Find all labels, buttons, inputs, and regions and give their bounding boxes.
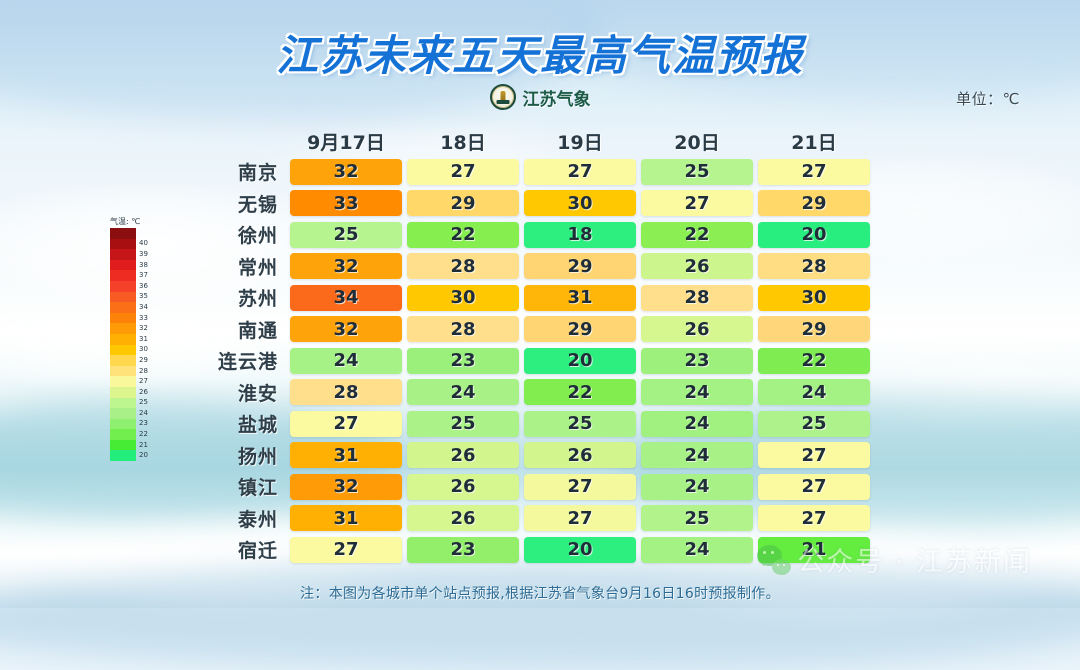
temperature-cell: 26 bbox=[641, 316, 753, 342]
temperature-cell: 32 bbox=[290, 316, 402, 342]
temperature-cell: 27 bbox=[524, 474, 636, 500]
legend-tick-label: 29 bbox=[139, 357, 148, 364]
legend-tick-label: 24 bbox=[139, 410, 148, 417]
legend-tick-label: 34 bbox=[139, 304, 148, 311]
temperature-cell: 31 bbox=[524, 285, 636, 311]
footer-note: 注：本图为各城市单个站点预报,根据江苏省气象台9月16日16时预报制作。 bbox=[0, 583, 1080, 603]
legend-tick-label: 37 bbox=[139, 272, 148, 279]
temperature-cell: 23 bbox=[641, 348, 753, 374]
temperature-cell: 28 bbox=[758, 253, 870, 279]
legend-tick-label: 23 bbox=[139, 420, 148, 427]
temperature-cell: 20 bbox=[758, 222, 870, 248]
temperature-cell: 22 bbox=[641, 222, 753, 248]
legend-stop: 35 bbox=[110, 292, 162, 303]
city-label: 苏州 bbox=[195, 284, 290, 311]
temperature-cell: 24 bbox=[641, 474, 753, 500]
legend-stop: 37 bbox=[110, 270, 162, 281]
legend-swatch bbox=[110, 302, 136, 313]
legend-swatch bbox=[110, 345, 136, 356]
legend-stop: 25 bbox=[110, 398, 162, 409]
table-row: 盐城2725252425 bbox=[195, 408, 875, 440]
temperature-cell: 27 bbox=[407, 159, 519, 185]
temperature-cell: 27 bbox=[290, 411, 402, 437]
temperature-cell: 34 bbox=[290, 285, 402, 311]
legend-tick-label: 20 bbox=[139, 452, 148, 459]
legend-swatch bbox=[110, 450, 136, 461]
table-row: 镇江3226272427 bbox=[195, 471, 875, 503]
temperature-cell: 24 bbox=[758, 379, 870, 405]
legend-tick-label: 40 bbox=[139, 240, 148, 247]
temperature-cell: 31 bbox=[290, 442, 402, 468]
city-label: 连云港 bbox=[195, 347, 290, 374]
city-label: 南京 bbox=[195, 158, 290, 185]
column-header-day-3: 19日 bbox=[524, 128, 636, 155]
temperature-cell: 25 bbox=[758, 411, 870, 437]
temperature-legend: 气温: ℃ 4039383736353433323130292827262524… bbox=[110, 216, 162, 461]
brand-name: 江苏气象 bbox=[523, 85, 591, 110]
table-row: 宿迁2723202421 bbox=[195, 534, 875, 566]
legend-stop: 39 bbox=[110, 249, 162, 260]
temperature-cell: 25 bbox=[407, 411, 519, 437]
temperature-cell: 28 bbox=[641, 285, 753, 311]
legend-swatch bbox=[110, 281, 136, 292]
temperature-cell: 26 bbox=[407, 505, 519, 531]
temperature-cell: 25 bbox=[290, 222, 402, 248]
brand-logo: 江苏气象 bbox=[0, 84, 1080, 110]
legend-stop: 40 bbox=[110, 239, 162, 250]
temperature-cell: 23 bbox=[407, 537, 519, 563]
temperature-cell: 23 bbox=[407, 348, 519, 374]
legend-tick-label: 30 bbox=[139, 346, 148, 353]
legend-stop: 26 bbox=[110, 387, 162, 398]
legend-swatch bbox=[110, 429, 136, 440]
legend-swatch bbox=[110, 270, 136, 281]
legend-swatch bbox=[110, 408, 136, 419]
legend-stop: 20 bbox=[110, 450, 162, 461]
city-label: 常州 bbox=[195, 253, 290, 280]
legend-swatch bbox=[110, 366, 136, 377]
temperature-cell: 33 bbox=[290, 190, 402, 216]
temperature-cell: 24 bbox=[641, 411, 753, 437]
temperature-cell: 20 bbox=[524, 537, 636, 563]
temperature-cell: 22 bbox=[758, 348, 870, 374]
legend-stop: 22 bbox=[110, 429, 162, 440]
weather-bureau-emblem-icon bbox=[490, 84, 516, 110]
temperature-cell: 27 bbox=[758, 159, 870, 185]
legend-swatch bbox=[110, 387, 136, 398]
legend-stop: 28 bbox=[110, 366, 162, 377]
legend-stop: 33 bbox=[110, 313, 162, 324]
legend-swatch bbox=[110, 313, 136, 324]
temperature-cell: 27 bbox=[758, 474, 870, 500]
legend-tick-label: 25 bbox=[139, 399, 148, 406]
legend-tick-label: 26 bbox=[139, 389, 148, 396]
column-header-day-2: 18日 bbox=[407, 128, 519, 155]
column-header-day-5: 21日 bbox=[758, 128, 870, 155]
legend-swatch bbox=[110, 355, 136, 366]
table-row: 南京3227272527 bbox=[195, 156, 875, 188]
page-title: 江苏未来五天最高气温预报 bbox=[0, 22, 1080, 83]
legend-swatch bbox=[110, 440, 136, 451]
temperature-cell: 29 bbox=[524, 316, 636, 342]
temperature-cell: 26 bbox=[641, 253, 753, 279]
legend-stop: 23 bbox=[110, 419, 162, 430]
legend-stop: 32 bbox=[110, 323, 162, 334]
temperature-cell: 27 bbox=[641, 190, 753, 216]
temperature-cell: 28 bbox=[290, 379, 402, 405]
city-label: 徐州 bbox=[195, 221, 290, 248]
legend-stop: 34 bbox=[110, 302, 162, 313]
temperature-cell: 18 bbox=[524, 222, 636, 248]
temperature-cell: 28 bbox=[407, 316, 519, 342]
temperature-cell: 26 bbox=[407, 442, 519, 468]
temperature-cell: 24 bbox=[290, 348, 402, 374]
temperature-cell: 32 bbox=[290, 474, 402, 500]
legend-tick-label: 31 bbox=[139, 336, 148, 343]
temperature-cell: 30 bbox=[407, 285, 519, 311]
table-row: 徐州2522182220 bbox=[195, 219, 875, 251]
legend-swatch bbox=[110, 292, 136, 303]
table-body: 南京3227272527无锡3329302729徐州2522182220常州32… bbox=[195, 156, 875, 566]
temperature-cell: 28 bbox=[407, 253, 519, 279]
legend-tick-label: 28 bbox=[139, 368, 148, 375]
unit-label: 单位：℃ bbox=[956, 88, 1020, 109]
city-label: 扬州 bbox=[195, 442, 290, 469]
legend-stop: 30 bbox=[110, 345, 162, 356]
temperature-cell: 29 bbox=[407, 190, 519, 216]
legend-swatch bbox=[110, 376, 136, 387]
legend-swatch bbox=[110, 249, 136, 260]
table-row: 扬州3126262427 bbox=[195, 440, 875, 472]
legend-swatch bbox=[110, 334, 136, 345]
legend-swatch bbox=[110, 419, 136, 430]
table-row: 淮安2824222424 bbox=[195, 377, 875, 409]
table-row: 泰州3126272527 bbox=[195, 503, 875, 535]
temperature-cell: 26 bbox=[524, 442, 636, 468]
temperature-cell: 26 bbox=[407, 474, 519, 500]
temperature-cell: 24 bbox=[641, 537, 753, 563]
legend-tick-label: 36 bbox=[139, 283, 148, 290]
legend-stop: 21 bbox=[110, 440, 162, 451]
legend-tick-label: 32 bbox=[139, 325, 148, 332]
temperature-cell: 32 bbox=[290, 253, 402, 279]
city-label: 南通 bbox=[195, 316, 290, 343]
temperature-cell: 27 bbox=[524, 159, 636, 185]
table-row: 南通3228292629 bbox=[195, 314, 875, 346]
temperature-cell: 25 bbox=[524, 411, 636, 437]
table-header-row: 9月17日18日19日20日21日 bbox=[195, 126, 875, 156]
table-row: 连云港2423202322 bbox=[195, 345, 875, 377]
temperature-cell: 27 bbox=[758, 505, 870, 531]
city-label: 盐城 bbox=[195, 410, 290, 437]
temperature-cell: 30 bbox=[524, 190, 636, 216]
legend-tick-label: 27 bbox=[139, 378, 148, 385]
legend-stop: 31 bbox=[110, 334, 162, 345]
table-row: 常州3228292628 bbox=[195, 251, 875, 283]
legend-swatch bbox=[110, 323, 136, 334]
legend-swatch bbox=[110, 228, 136, 239]
temperature-cell: 32 bbox=[290, 159, 402, 185]
temperature-cell: 25 bbox=[641, 505, 753, 531]
legend-swatch bbox=[110, 260, 136, 271]
legend-stop bbox=[110, 228, 162, 239]
legend-tick-label: 38 bbox=[139, 262, 148, 269]
legend-stop: 24 bbox=[110, 408, 162, 419]
temperature-cell: 27 bbox=[524, 505, 636, 531]
legend-color-scale: 4039383736353433323130292827262524232221… bbox=[110, 228, 162, 461]
temperature-cell: 27 bbox=[290, 537, 402, 563]
temperature-cell: 24 bbox=[407, 379, 519, 405]
temperature-cell: 24 bbox=[641, 379, 753, 405]
legend-stop: 27 bbox=[110, 376, 162, 387]
table-row: 苏州3430312830 bbox=[195, 282, 875, 314]
temperature-cell: 22 bbox=[407, 222, 519, 248]
city-label: 淮安 bbox=[195, 379, 290, 406]
temperature-cell: 29 bbox=[758, 190, 870, 216]
legend-swatch bbox=[110, 398, 136, 409]
legend-tick-label: 33 bbox=[139, 315, 148, 322]
legend-stop: 36 bbox=[110, 281, 162, 292]
forecast-table: 9月17日18日19日20日21日 南京3227272527无锡33293027… bbox=[195, 126, 875, 566]
legend-tick-label: 39 bbox=[139, 251, 148, 258]
legend-swatch bbox=[110, 239, 136, 250]
temperature-cell: 30 bbox=[758, 285, 870, 311]
legend-stop: 29 bbox=[110, 355, 162, 366]
table-row: 无锡3329302729 bbox=[195, 188, 875, 220]
legend-stop: 38 bbox=[110, 260, 162, 271]
mountain-wash-bottom bbox=[0, 560, 1080, 670]
city-label: 镇江 bbox=[195, 473, 290, 500]
temperature-cell: 20 bbox=[524, 348, 636, 374]
city-label: 泰州 bbox=[195, 505, 290, 532]
legend-tick-label: 22 bbox=[139, 431, 148, 438]
temperature-cell: 31 bbox=[290, 505, 402, 531]
temperature-cell: 25 bbox=[641, 159, 753, 185]
temperature-cell: 21 bbox=[758, 537, 870, 563]
temperature-cell: 24 bbox=[641, 442, 753, 468]
city-label: 无锡 bbox=[195, 190, 290, 217]
temperature-cell: 27 bbox=[758, 442, 870, 468]
temperature-cell: 22 bbox=[524, 379, 636, 405]
temperature-cell: 29 bbox=[524, 253, 636, 279]
legend-tick-label: 21 bbox=[139, 442, 148, 449]
column-header-day-4: 20日 bbox=[641, 128, 753, 155]
temperature-cell: 29 bbox=[758, 316, 870, 342]
column-header-day-1: 9月17日 bbox=[290, 128, 402, 155]
legend-tick-label: 35 bbox=[139, 293, 148, 300]
city-label: 宿迁 bbox=[195, 536, 290, 563]
legend-title: 气温: ℃ bbox=[110, 216, 162, 227]
